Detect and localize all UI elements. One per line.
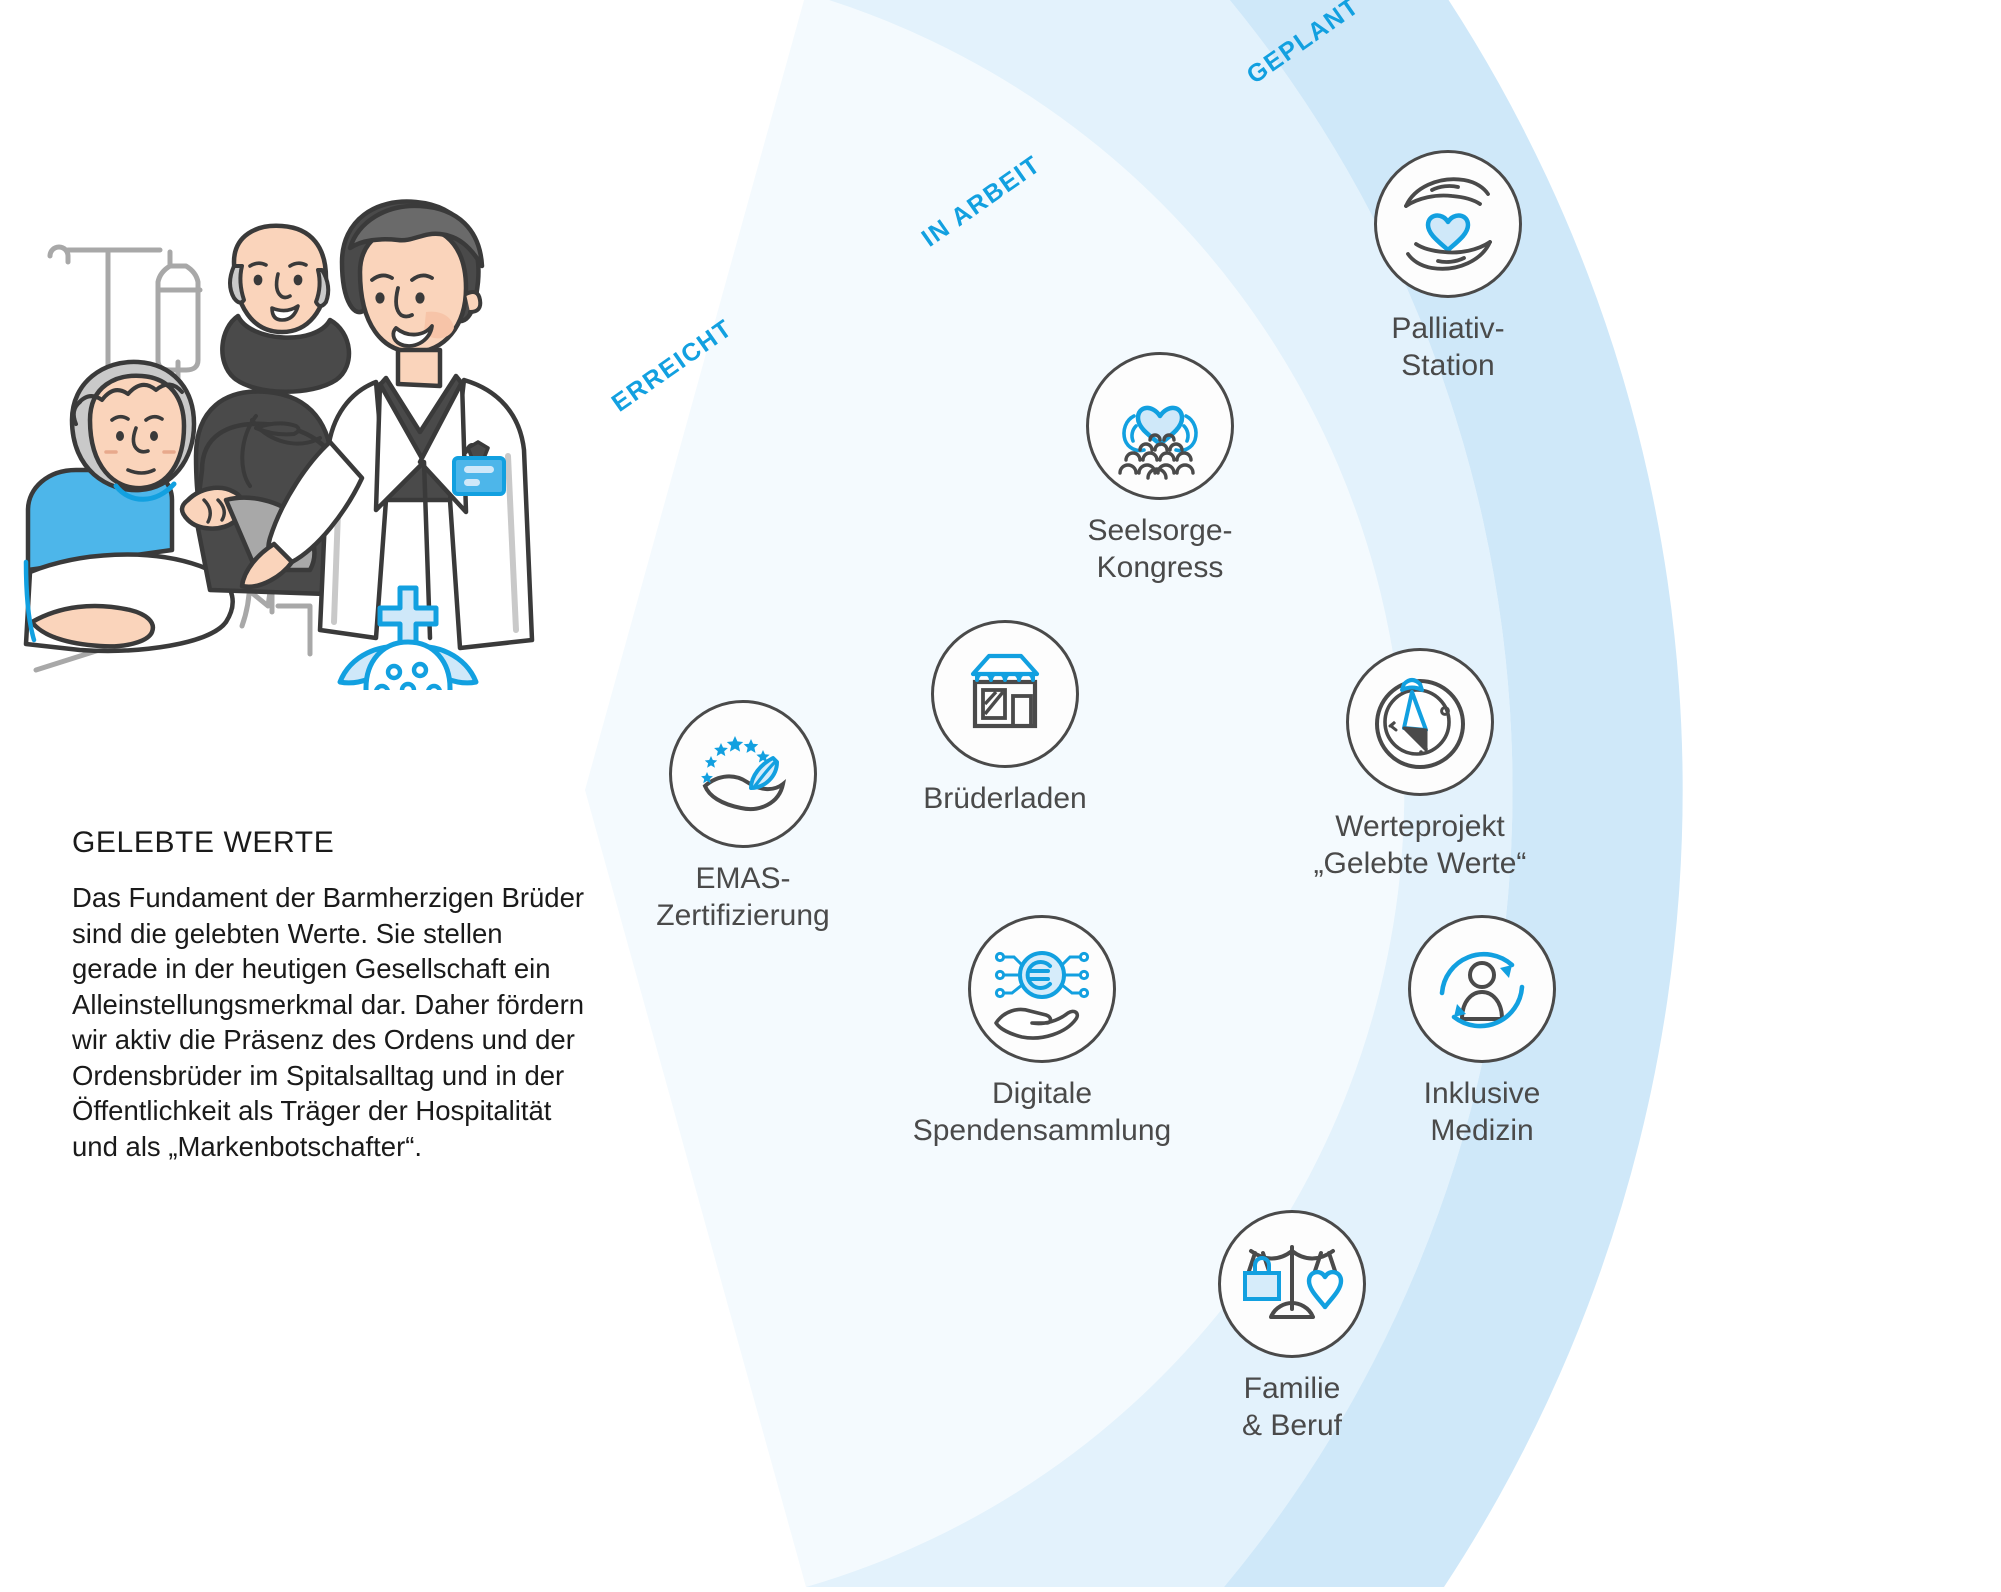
node-caption: Brüderladen	[875, 780, 1135, 817]
eu-stars-leaf-icon	[669, 700, 817, 848]
node-caption: Digitale Spendensammlung	[912, 1075, 1172, 1149]
node-caption: Inklusive Medizin	[1352, 1075, 1612, 1149]
node-bruederladen[interactable]: Brüderladen	[875, 620, 1135, 817]
node-caption: Werteprojekt „Gelebte Werte“	[1290, 808, 1550, 882]
hospital-scene-illustration	[20, 170, 540, 690]
node-inklusive-medizin[interactable]: Inklusive Medizin	[1352, 915, 1612, 1149]
panel-body-text: Das Fundament der Barmherzigen Brüder si…	[72, 880, 617, 1164]
node-caption: Palliativ- Station	[1318, 310, 1578, 384]
node-werteprojekt[interactable]: Werteprojekt „Gelebte Werte“	[1290, 648, 1550, 882]
page-title: GELEBTE WERTE	[72, 826, 334, 860]
shop-awning-icon	[931, 620, 1079, 768]
person-cycle-arrows-icon	[1408, 915, 1556, 1063]
node-seelsorge-kongress[interactable]: Seelsorge- Kongress	[1030, 352, 1290, 586]
node-caption: EMAS- Zertifizierung	[613, 860, 873, 934]
node-palliativ-station[interactable]: Palliativ- Station	[1318, 150, 1578, 384]
node-digitale-spendensammlung[interactable]: Digitale Spendensammlung	[912, 915, 1172, 1149]
infographic-canvas: ERREICHT IN ARBEIT GEPLANT	[0, 0, 2001, 1587]
euro-network-hand-icon	[968, 915, 1116, 1063]
scales-briefcase-heart-icon	[1218, 1210, 1366, 1358]
node-caption: Familie & Beruf	[1162, 1370, 1422, 1444]
node-caption: Seelsorge- Kongress	[1030, 512, 1290, 586]
node-familie-beruf[interactable]: Familie & Beruf	[1162, 1210, 1422, 1444]
node-emas[interactable]: EMAS- Zertifizierung	[613, 700, 873, 934]
compass-icon	[1346, 648, 1494, 796]
left-info-panel: GELEBTE WERTE Das Fundament der Barmherz…	[0, 0, 640, 1587]
hands-heart-crowd-icon	[1086, 352, 1234, 500]
hands-cradling-heart-icon	[1374, 150, 1522, 298]
